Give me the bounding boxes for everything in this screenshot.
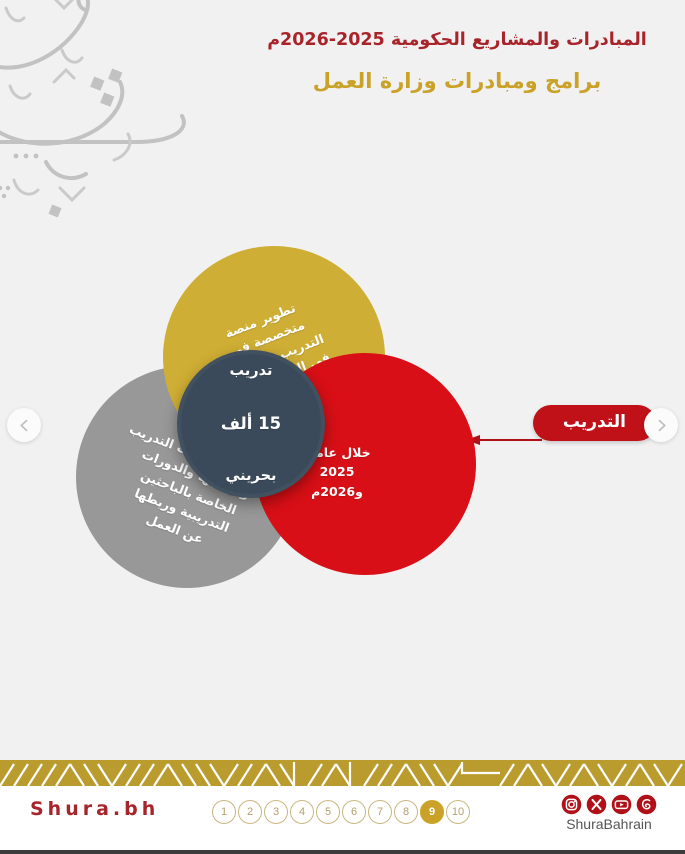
venn-center-label: تدريب 15 ألف بحريني [221,333,281,514]
decorative-pattern-band [0,760,685,786]
youtube-icon[interactable] [611,794,632,815]
page-dot-4[interactable]: 4 [290,800,314,824]
page-dot-8[interactable]: 8 [394,800,418,824]
page-dot-3[interactable]: 3 [264,800,288,824]
carousel-prev-button[interactable] [7,408,41,442]
threads-icon[interactable] [636,794,657,815]
chevron-left-icon [18,419,31,432]
page-dot-10[interactable]: 10 [446,800,470,824]
instagram-icon[interactable] [561,794,582,815]
callout-group: التدريب [466,405,656,453]
bottom-strip [0,850,685,854]
venn-center-line3: بحريني [221,464,281,489]
social-icons [561,794,657,815]
callout-arrow-icon [466,432,542,446]
page-dot-6[interactable]: 6 [342,800,366,824]
x-twitter-icon[interactable] [586,794,607,815]
shura-calligraphy-watermark [0,0,196,234]
carousel-next-button[interactable] [644,408,678,442]
venn-center-line2: 15 ألف [221,410,281,439]
shura-logo[interactable]: Shura.bh [30,798,159,820]
chevron-right-icon [655,419,668,432]
social-block: ShuraBahrain [561,794,657,832]
page-subtitle: برامج ومبادرات وزارة العمل [247,68,667,95]
page-dot-2[interactable]: 2 [238,800,262,824]
social-handle: ShuraBahrain [561,816,657,832]
page-title: المبادرات والمشاريع الحكومية 2025-2026م [247,30,667,52]
page-indicator: 1 2 3 4 5 6 7 8 9 10 [212,800,470,824]
slide-header: المبادرات والمشاريع الحكومية 2025-2026م … [247,30,667,95]
callout-label-training[interactable]: التدريب [533,405,656,441]
page-dot-7[interactable]: 7 [368,800,392,824]
page-dot-5[interactable]: 5 [316,800,340,824]
page-dot-1[interactable]: 1 [212,800,236,824]
footer-bar: Shura.bh 1 2 3 4 5 6 7 8 9 10 [0,786,685,854]
page-dot-9[interactable]: 9 [420,800,444,824]
slide-canvas: المبادرات والمشاريع الحكومية 2025-2026م … [0,0,685,854]
venn-center-line1: تدريب [221,359,281,384]
venn-diagram: تسجيل مؤسسات التدريب وبرامجها والدورات ا… [58,238,478,608]
venn-center-circle: تدريب 15 ألف بحريني [177,350,325,498]
